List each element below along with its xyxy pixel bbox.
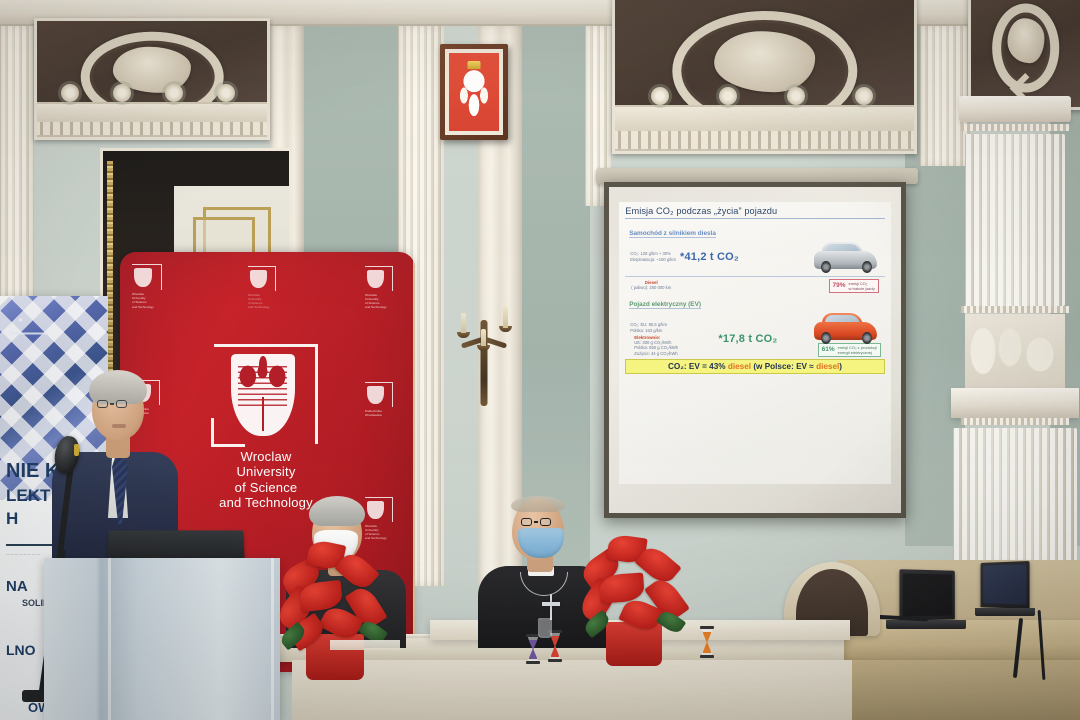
glasses-lens-left [97, 400, 108, 408]
ev-car-image [813, 311, 879, 345]
denticle-band [612, 131, 917, 149]
coa-mat [445, 49, 503, 135]
cap-line: and Technology [248, 305, 270, 309]
diesel-percent-value: 79% [833, 282, 846, 289]
lectern-edge-right [271, 558, 274, 720]
hourglass-sand [703, 632, 712, 653]
conclusion-suffix: ) [839, 362, 842, 371]
hourglass-sand [551, 636, 560, 657]
relief-panel-right [612, 0, 917, 154]
diesel-note-row: Diesel ( paliwo): 250 000 km 79% emisji … [625, 279, 885, 293]
white-eagle-icon [456, 65, 492, 124]
diesel-caption-2: w trakcie jazdy [849, 286, 875, 291]
diesel-note: Diesel ( paliwo): 250 000 km [631, 280, 671, 291]
panelist-left-hair [309, 496, 365, 526]
slide-heading-diesel: Samochód z silnikiem diesla [629, 230, 716, 238]
diesel-note-sub: ( paliwo): 250 000 km [631, 285, 671, 291]
polish-coat-of-arms [440, 44, 508, 140]
university-logo-caption: Wroclaw University of Science and Techno… [214, 444, 318, 510]
laptop-right-2[interactable] [886, 570, 966, 632]
relief-panel-left [34, 18, 270, 140]
ev-percent-value: 61% [822, 346, 835, 353]
poinsettia-right [578, 534, 696, 668]
shield-icon [132, 264, 162, 290]
lectern-edge-left [108, 558, 111, 720]
car-wheel-front [821, 332, 831, 344]
shield-icon [248, 266, 276, 291]
lectern [44, 558, 280, 720]
ev-percent-box: 61% emisji CO₂ z produkcji energii elekt… [818, 343, 881, 357]
speaker-glasses [97, 400, 127, 408]
hourglass-cap-bottom [700, 655, 714, 658]
logo-caption-line: Wroclaw [214, 449, 318, 464]
column-bead-band-2 [961, 306, 1069, 313]
glasses-bridge [110, 403, 114, 404]
column-lower-shaft [953, 428, 1077, 566]
rollup-fine-print: — — — — — — — — [6, 552, 40, 556]
sconce-candle-mid [481, 329, 486, 347]
banner-right-edge [413, 252, 415, 672]
relief-shelf [34, 102, 270, 137]
drinking-glass [538, 618, 552, 638]
conclusion-middle: (w Polsce: EV ≈ [751, 362, 816, 371]
diesel-detail-2: Eksploatacja: ~150 g/km [630, 257, 676, 263]
car-wheel-rear [862, 261, 872, 273]
clergy-hair [511, 496, 565, 512]
diesel-percent-caption: emisji CO₂ w trakcie jazdy [849, 281, 875, 291]
glasses-lens-left [521, 518, 532, 526]
mini-logo-caption: Wroclaw University of Science and Techno… [365, 293, 393, 310]
crest-ornament [714, 31, 816, 93]
ev-electricity-note: Elektrownie: UE: 300 g CO₂/kWh Polska: 6… [629, 335, 678, 357]
poinsettia-left [276, 536, 396, 684]
shield-icon [365, 266, 393, 291]
relief-panel-far-right [968, 0, 1080, 110]
slide-conclusion-banner: CO₂: EV = 43% diesel (w Polsce: EV ≈ die… [625, 359, 885, 374]
wall-sconce [455, 300, 513, 410]
mini-logo-bottom-right: Wroclaw University of Science and Techno… [365, 497, 393, 537]
cap-line: Wrocławska [365, 413, 382, 417]
projection-screen: Emisja CO₂ podczas „życia” pojazdu Samoc… [604, 182, 906, 518]
mini-logo-mid-right: Politechnika Wrocławska [365, 382, 393, 422]
mini-logo-top-left: Wroclaw University of Science and Techno… [132, 264, 162, 306]
rosette-ornament [651, 87, 669, 105]
mini-logo-caption: Wroclaw University of Science and Techno… [132, 292, 162, 309]
ev-detail-2: Polska: 163 g/km [630, 328, 667, 334]
hourglass-orange [700, 626, 714, 658]
crest-ornament [1007, 18, 1044, 64]
laptop-lid [981, 561, 1030, 609]
hourglass-cap-bottom [548, 659, 562, 662]
rosette-ornament [787, 87, 805, 105]
diesel-co2-value: *41,2 t CO₂ [680, 251, 739, 263]
laptop-screen [903, 573, 952, 617]
glasses-lens-right [116, 400, 127, 408]
conclusion-prefix: CO₂: EV = 43% [668, 362, 728, 371]
rosette-ornament [217, 84, 235, 102]
mini-logo-top-center: Wroclaw University of Science and Techno… [248, 266, 276, 306]
speaker-hair [89, 370, 147, 404]
mini-logo-caption: Wroclaw University of Science and Techno… [248, 293, 276, 310]
table-document [330, 640, 400, 650]
sconce-candle-left [461, 313, 466, 333]
denticle-band [34, 122, 270, 135]
logo-caption-line: University [214, 464, 318, 479]
coa-red-field [449, 53, 499, 131]
mini-logo-top-right: Wroclaw University of Science and Techno… [365, 266, 393, 306]
laptop-lid [899, 569, 954, 621]
column-capital [959, 96, 1071, 122]
mini-logo-caption-pl: Politechnika Wrocławska [365, 409, 393, 417]
ornate-column [965, 96, 1065, 566]
logo-caption-line: and Technology [214, 495, 318, 510]
rosette-ornament [719, 87, 737, 105]
shield-icon [365, 382, 393, 407]
column-shaft [965, 134, 1065, 306]
glasses-lens-right [540, 518, 551, 526]
relief-shelf [612, 105, 917, 151]
column-base [951, 388, 1079, 418]
hourglass-cap-top [700, 626, 714, 629]
presentation-slide: Emisja CO₂ podczas „życia” pojazdu Samoc… [619, 202, 891, 484]
laptop-base [975, 608, 1035, 616]
rosette-ornament [855, 87, 873, 105]
diesel-percent-box: 79% emisji CO₂ w trakcie jazdy [829, 279, 879, 293]
slide-divider [625, 276, 885, 277]
hourglass-cap-bottom [526, 661, 540, 664]
ev-co2-value: *17,8 t CO₂ [718, 333, 777, 345]
rollup-line-6: LNO [6, 642, 36, 658]
wall-panel-green-mid [520, 26, 590, 566]
cap-line: and Technology [365, 305, 387, 309]
ev-percent-caption: emisji CO₂ z produkcji energii elektrycz… [838, 345, 877, 355]
speaker-mouth [112, 424, 126, 428]
slide-ev-details: CO₂: EU: 80,5 g/km Polska: 163 g/km [625, 322, 667, 333]
logo-eagle-head [259, 356, 267, 372]
laptop-right-1[interactable] [975, 562, 1035, 624]
ev-note-3: Zużycie: 44 g CO₂/kWh [634, 351, 678, 357]
rollup-line-2: LEKT [6, 486, 50, 506]
rollup-line-3: H [6, 509, 18, 529]
ev-caption-2: energii elektrycznej [838, 350, 872, 355]
column-bead-band-3 [961, 418, 1069, 425]
slide-diesel-details: CO₂: 128 g/km + 30% Eksploatacja: ~150 g… [625, 251, 676, 262]
projection-screen-surface: Emisja CO₂ podczas „życia” pojazdu Samoc… [609, 187, 901, 513]
column-floral-relief [965, 314, 1065, 388]
rosette-ornament [61, 84, 79, 102]
sconce-candle-right [503, 306, 508, 328]
cap-line: and Technology [132, 305, 154, 309]
car-wheel-front [821, 261, 831, 273]
laptop-screen [983, 564, 1026, 605]
hourglass-sand [529, 640, 538, 659]
clergy-glasses [521, 518, 551, 526]
diesel-car-image [813, 240, 879, 274]
shield-icon [365, 497, 393, 522]
hourglass-purple [526, 634, 540, 664]
slide-diesel-row: CO₂: 128 g/km + 30% Eksploatacja: ~150 g… [625, 240, 885, 274]
logo-shield-split [262, 397, 264, 431]
plant-pot [606, 622, 662, 666]
car-wheel-rear [862, 332, 872, 344]
university-logo: Wroclaw University of Science and Techno… [214, 344, 318, 444]
slide-title: Emisja CO₂ podczas „życia” pojazdu [625, 206, 885, 219]
conclusion-highlight-2: diesel [816, 362, 839, 371]
slide-heading-ev: Pojazd elektryczny (EV) [629, 301, 701, 309]
pectoral-cross [542, 594, 560, 620]
column-bead-band [961, 124, 1069, 131]
conclusion-highlight-1: diesel [728, 362, 751, 371]
microphone-tip [74, 444, 79, 456]
rollup-line-4: NA [6, 578, 28, 595]
conference-photo: Emisja CO₂ podczas „życia” pojazdu Samoc… [0, 0, 1080, 720]
logo-caption-line: of Science [214, 480, 318, 495]
glasses-bridge [534, 521, 538, 522]
